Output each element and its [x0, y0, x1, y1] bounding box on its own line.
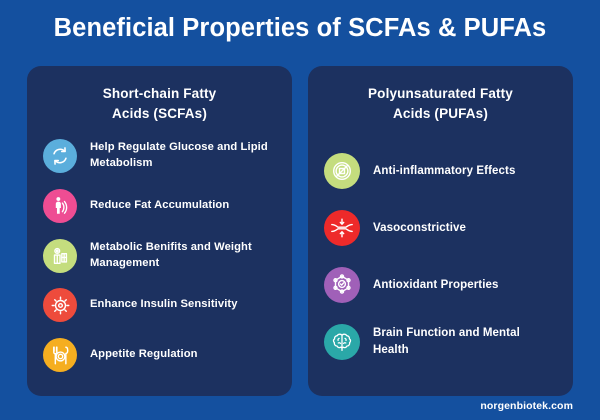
list-item[interactable]: Enhance Insulin Sensitivity: [43, 288, 276, 322]
list-item-label: Help Regulate Glucose and Lipid Metaboli…: [90, 140, 276, 172]
metabolism-gear-icon: [43, 239, 77, 273]
list-item-label: Enhance Insulin Sensitivity: [90, 297, 238, 313]
antioxidant-molecule-icon: [324, 267, 360, 303]
no-inflammation-icon: [324, 153, 360, 189]
recycle-arrows-icon: [43, 139, 77, 173]
list-item[interactable]: Reduce Fat Accumulation: [43, 189, 276, 223]
plate-cutlery-icon: [43, 338, 77, 372]
list-item[interactable]: Appetite Regulation: [43, 338, 276, 372]
panels-container: Short-chain Fatty Acids (SCFAs) Help Reg…: [27, 66, 573, 396]
panel-scfa-heading-line2: Acids (SCFAs): [112, 106, 207, 121]
list-item[interactable]: Antioxidant Properties: [324, 267, 557, 303]
panel-scfa: Short-chain Fatty Acids (SCFAs) Help Reg…: [27, 66, 292, 396]
scfa-item-list: Help Regulate Glucose and Lipid Metaboli…: [43, 129, 276, 386]
brain-icon: [324, 324, 360, 360]
list-item[interactable]: Anti-inflammatory Effects: [324, 153, 557, 189]
infographic-root: Beneficial Properties of SCFAs & PUFAs S…: [0, 0, 600, 420]
list-item[interactable]: Vasoconstrictive: [324, 210, 557, 246]
list-item-label: Appetite Regulation: [90, 347, 198, 363]
list-item-label: Vasoconstrictive: [373, 220, 466, 236]
list-item-label: Brain Function and Mental Health: [373, 325, 557, 358]
list-item-label: Anti-inflammatory Effects: [373, 163, 515, 179]
list-item[interactable]: Metabolic Benifits and Weight Management: [43, 239, 276, 273]
page-title: Beneficial Properties of SCFAs & PUFAs: [0, 14, 600, 43]
list-item-label: Metabolic Benifits and Weight Management: [90, 240, 276, 272]
insulin-cell-icon: [43, 288, 77, 322]
list-item-label: Reduce Fat Accumulation: [90, 198, 229, 214]
list-item[interactable]: Help Regulate Glucose and Lipid Metaboli…: [43, 139, 276, 173]
blood-vessel-icon: [324, 210, 360, 246]
footer-website: norgenbiotek.com: [480, 400, 573, 412]
panel-pufa-heading-line2: Acids (PUFAs): [393, 106, 488, 121]
body-silhouette-icon: [43, 189, 77, 223]
panel-scfa-heading: Short-chain Fatty Acids (SCFAs): [43, 84, 276, 123]
panel-pufa-heading: Polyunsaturated Fatty Acids (PUFAs): [324, 84, 557, 123]
panel-pufa-heading-line1: Polyunsaturated Fatty: [368, 86, 513, 101]
pufa-item-list: Anti-inflammatory Effects Vasocon: [324, 129, 557, 386]
panel-scfa-heading-line1: Short-chain Fatty: [103, 86, 217, 101]
list-item[interactable]: Brain Function and Mental Health: [324, 324, 557, 360]
panel-pufa: Polyunsaturated Fatty Acids (PUFAs) Anti…: [308, 66, 573, 396]
list-item-label: Antioxidant Properties: [373, 277, 499, 293]
